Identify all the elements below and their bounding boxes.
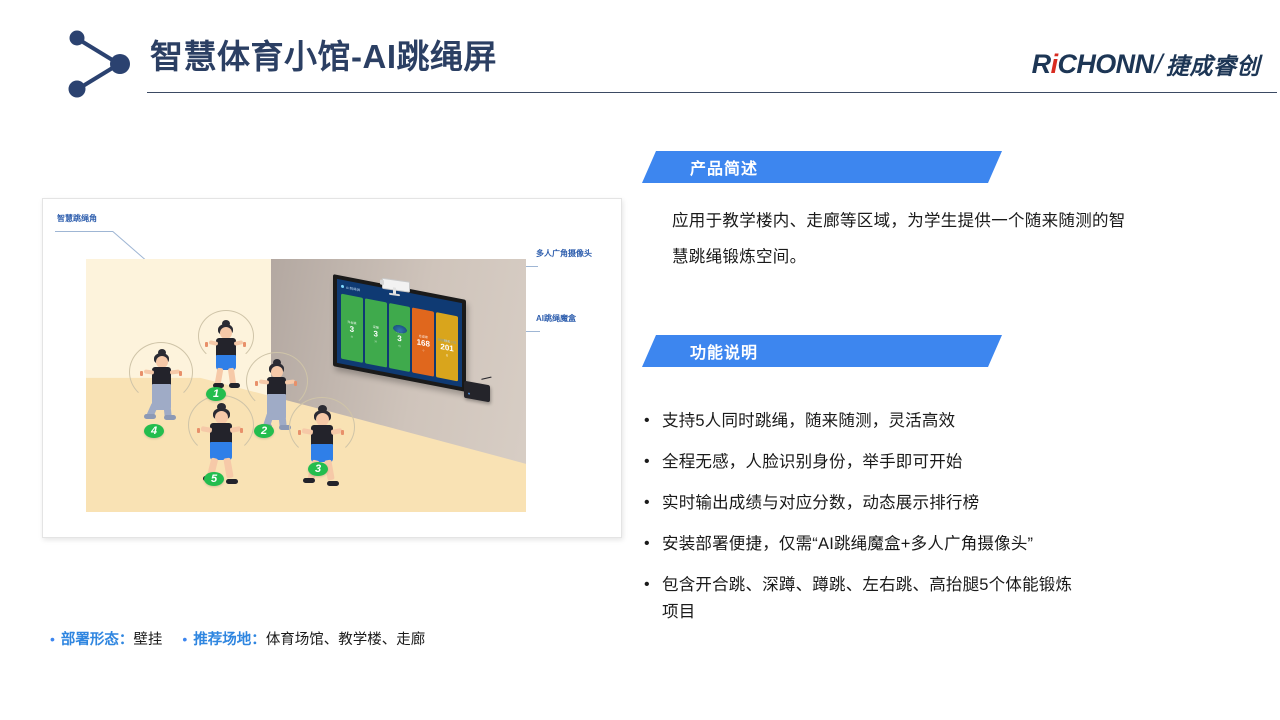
floor-marker: 4 (144, 424, 164, 438)
list-item: • 全程无感，人脸识别身份，举手即可开始 (644, 449, 1224, 476)
footer-key-venue: 推荐场地： (193, 628, 266, 649)
section-banner-function-label: 功能说明 (690, 339, 758, 363)
page-title: 智慧体育小馆-AI跳绳屏 (150, 30, 497, 78)
person-figure (204, 314, 248, 394)
function-bullet-list: • 支持5人同时跳绳，随来随测，灵活高效 • 全程无感，人脸识别身份，举手即可开… (644, 408, 1224, 640)
floor-marker: 5 (204, 472, 224, 486)
score-card: 蹲跳 3 分 (389, 303, 411, 372)
brand-logo: RiCHONN / 捷成睿创 (1032, 48, 1260, 80)
score-card-unit: 分 (398, 343, 401, 348)
list-item: • 实时输出成绩与对应分数，动态展示排行榜 (644, 490, 1224, 517)
list-item-line2: 项目 (662, 599, 1072, 626)
logo-mark: RiCHONN (1032, 49, 1154, 80)
footer-bullet-marker: • (182, 631, 187, 647)
list-item-text: 安装部署便捷，仅需“AI跳绳魔盒+多人广角摄像头” (662, 531, 1033, 558)
score-card-unit: 名 (446, 352, 449, 357)
annotation-label-camera: 多人广角摄像头 (536, 248, 592, 259)
list-item-text: 全程无感，人脸识别身份，举手即可开始 (662, 449, 963, 476)
score-card-value: 168 (417, 338, 430, 349)
section-banner-product: 产品简述 (642, 151, 1002, 183)
score-card-unit: 分 (374, 339, 377, 344)
footer-value-deployment: 壁挂 (133, 628, 162, 649)
list-item-text: 支持5人同时跳绳，随来随测，灵活高效 (662, 408, 955, 435)
list-item-text: 实时输出成绩与对应分数，动态展示排行榜 (662, 490, 979, 517)
product-description-paragraph: 应用于教学楼内、走廊等区域，为学生提供一个随来随测的智慧跳绳锻炼空间。 (672, 203, 1142, 275)
list-item-text: 包含开合跳、深蹲、蹲跳、左右跳、高抬腿5个体能锻炼 项目 (662, 572, 1072, 626)
network-node-icon (62, 27, 144, 101)
logo-chinese-name: 捷成睿创 (1166, 47, 1260, 81)
bullet-marker: • (644, 408, 662, 434)
score-card-value: 3 (350, 325, 354, 334)
person-figure (141, 344, 185, 424)
floor-marker: 3 (308, 462, 328, 476)
floor-marker: 2 (254, 424, 274, 438)
score-card-unit: 个 (422, 348, 425, 353)
logo-separator: / (1152, 49, 1166, 80)
bullet-marker: • (644, 531, 662, 557)
score-card-unit: 分 (351, 334, 354, 339)
list-item: • 安装部署便捷，仅需“AI跳绳魔盒+多人广角摄像头” (644, 531, 1224, 558)
footer-key-deployment: 部署形态： (61, 628, 134, 649)
annotation-leader-line (55, 231, 113, 232)
score-card-value: 201 (440, 342, 453, 353)
score-card: 深蹲 3 分 (365, 298, 387, 367)
score-card: 排名 201 名 (436, 312, 458, 381)
bullet-marker: • (644, 449, 662, 475)
person-figure (299, 401, 347, 491)
gym-scene-illustration: AI跳绳屏 开合跳 3 分 深蹲 3 分 蹲跳 3 (86, 259, 526, 512)
score-card: 总成绩 168 个 (412, 308, 434, 377)
score-card: 开合跳 3 分 (341, 294, 363, 363)
logo-mark-before: R (1032, 49, 1051, 79)
logo-mark-after: CHONN (1057, 49, 1153, 79)
section-banner-product-label: 产品简述 (690, 155, 758, 179)
display-title: AI跳绳屏 (346, 284, 361, 292)
section-banner-function: 功能说明 (642, 335, 1002, 367)
illustration-panel: 智慧跳绳角 多人广角摄像头 AI跳绳魔盒 AI跳绳屏 开合跳 3 (42, 198, 622, 538)
page-header: 智慧体育小馆-AI跳绳屏 RiCHONN / 捷成睿创 (0, 0, 1280, 115)
list-item-line1: 包含开合跳、深蹲、蹲跳、左右跳、高抬腿5个体能锻炼 (662, 572, 1072, 599)
list-item: • 包含开合跳、深蹲、蹲跳、左右跳、高抬腿5个体能锻炼 项目 (644, 572, 1224, 626)
score-card-value: 3 (397, 334, 401, 343)
list-item: • 支持5人同时跳绳，随来随测，灵活高效 (644, 408, 1224, 435)
floor-marker: 1 (206, 387, 226, 401)
display-logo-dot (341, 284, 344, 288)
footer-value-venue: 体育场馆、教学楼、走廊 (266, 628, 426, 649)
title-divider (147, 92, 1277, 93)
footer-meta: • 部署形态： 壁挂 • 推荐场地： 体育场馆、教学楼、走廊 (50, 628, 425, 649)
bullet-marker: • (644, 490, 662, 516)
score-card-value: 3 (373, 329, 377, 338)
footer-bullet-marker: • (50, 631, 55, 647)
annotation-label-aibox: AI跳绳魔盒 (536, 313, 576, 324)
bullet-marker: • (644, 572, 662, 598)
annotation-label-corner: 智慧跳绳角 (57, 213, 97, 224)
